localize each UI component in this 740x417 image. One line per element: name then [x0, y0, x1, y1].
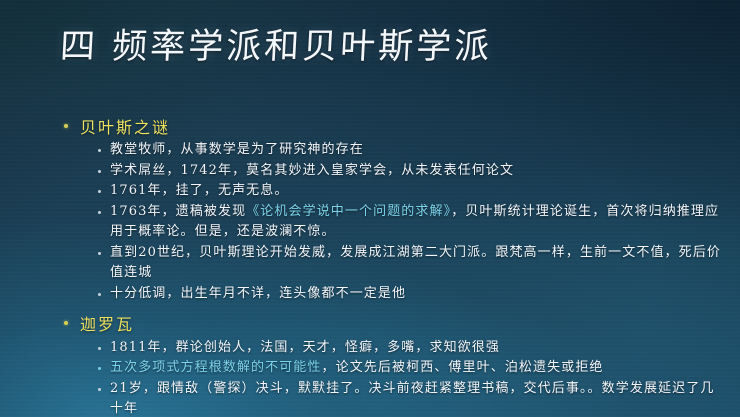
- sub-bullet-dot-icon: [98, 190, 101, 193]
- bullet-text: 1763年，遗稿被发现《论机会学说中一个问题的求解》，贝叶斯统计理论诞生，首次将…: [110, 202, 726, 243]
- sub-bullet-dot-icon: [98, 211, 101, 214]
- sub-bullet-dot-icon: [98, 170, 101, 173]
- bullet-text: 21岁，跟情敌（警探）决斗，默默挂了。决斗前夜赶紧整理书稿，交代后事。。数学发展…: [110, 379, 726, 417]
- bullet-text-highlighted-title: 《论机会学说中一个问题的求解》: [246, 204, 451, 219]
- slide-body: 贝叶斯之谜 教堂牧师，从事数学是为了研究神的存在 学术屌丝，1742年，莫名其妙…: [0, 116, 740, 417]
- sub-bullet-dot-icon: [98, 293, 101, 296]
- sub-bullet-dot-icon: [98, 252, 101, 255]
- bullet-list-item: 21岁，跟情敌（警探）决斗，默默挂了。决斗前夜赶紧整理书稿，交代后事。。数学发展…: [0, 379, 740, 417]
- bullet-text: 教堂牧师，从事数学是为了研究神的存在: [110, 140, 364, 161]
- sub-bullet-dot-icon: [98, 367, 101, 370]
- bullet-section: 迦罗瓦 1811年，群论创始人，法国，天才，怪癖，多嘴，求知欲很强 五次多项式方…: [0, 313, 740, 417]
- section-heading-row: 迦罗瓦: [0, 313, 740, 336]
- bullet-list-item: 1763年，遗稿被发现《论机会学说中一个问题的求解》，贝叶斯统计理论诞生，首次将…: [0, 202, 740, 243]
- bullet-text: 直到20世纪，贝叶斯理论开始发威，发展成江湖第二大门派。跟梵高一样，生前一文不值…: [110, 243, 726, 284]
- bullet-dot-icon: [64, 124, 68, 128]
- section-heading-label: 迦罗瓦: [80, 313, 134, 336]
- bullet-list-item: 教堂牧师，从事数学是为了研究神的存在: [0, 140, 740, 161]
- bullet-text: 1761年，挂了，无声无息。: [110, 181, 288, 202]
- bullet-text: 十分低调，出生年月不详，连头像都不一定是他: [110, 284, 406, 305]
- bullet-section: 贝叶斯之谜 教堂牧师，从事数学是为了研究神的存在 学术屌丝，1742年，莫名其妙…: [0, 116, 740, 304]
- bullet-list-item: 1811年，群论创始人，法国，天才，怪癖，多嘴，求知欲很强: [0, 338, 740, 359]
- bullet-text-highlighted-title: 五次多项式方程根数解的不可能性: [110, 360, 322, 375]
- bullet-list-item: 学术屌丝，1742年，莫名其妙进入皇家学会，从未发表任何论文: [0, 161, 740, 182]
- presentation-slide: 四 频率学派和贝叶斯学派 贝叶斯之谜 教堂牧师，从事数学是为了研究神的存在 学术…: [0, 0, 740, 417]
- bullet-list-item: 1761年，挂了，无声无息。: [0, 181, 740, 202]
- bullet-list-item: 五次多项式方程根数解的不可能性，论文先后被柯西、傅里叶、泊松遗失或拒绝: [0, 358, 740, 379]
- bullet-list-item: 直到20世纪，贝叶斯理论开始发威，发展成江湖第二大门派。跟梵高一样，生前一文不值…: [0, 243, 740, 284]
- sub-bullet-dot-icon: [98, 347, 101, 350]
- bullet-text: 1811年，群论创始人，法国，天才，怪癖，多嘴，求知欲很强: [110, 338, 500, 359]
- section-heading-label: 贝叶斯之谜: [80, 116, 170, 139]
- slide-title: 四 频率学派和贝叶斯学派: [59, 26, 493, 70]
- bullet-text: 学术屌丝，1742年，莫名其妙进入皇家学会，从未发表任何论文: [110, 161, 514, 182]
- bullet-text: 五次多项式方程根数解的不可能性，论文先后被柯西、傅里叶、泊松遗失或拒绝: [110, 358, 604, 379]
- bullet-text-segment: 1763年，遗稿被发现: [110, 204, 246, 219]
- bullet-dot-icon: [64, 321, 68, 325]
- sub-bullet-dot-icon: [98, 388, 101, 391]
- sub-bullet-dot-icon: [98, 149, 101, 152]
- section-heading-row: 贝叶斯之谜: [0, 116, 740, 139]
- bullet-list-item: 十分低调，出生年月不详，连头像都不一定是他: [0, 284, 740, 305]
- bullet-text-segment: ，论文先后被柯西、傅里叶、泊松遗失或拒绝: [322, 360, 604, 375]
